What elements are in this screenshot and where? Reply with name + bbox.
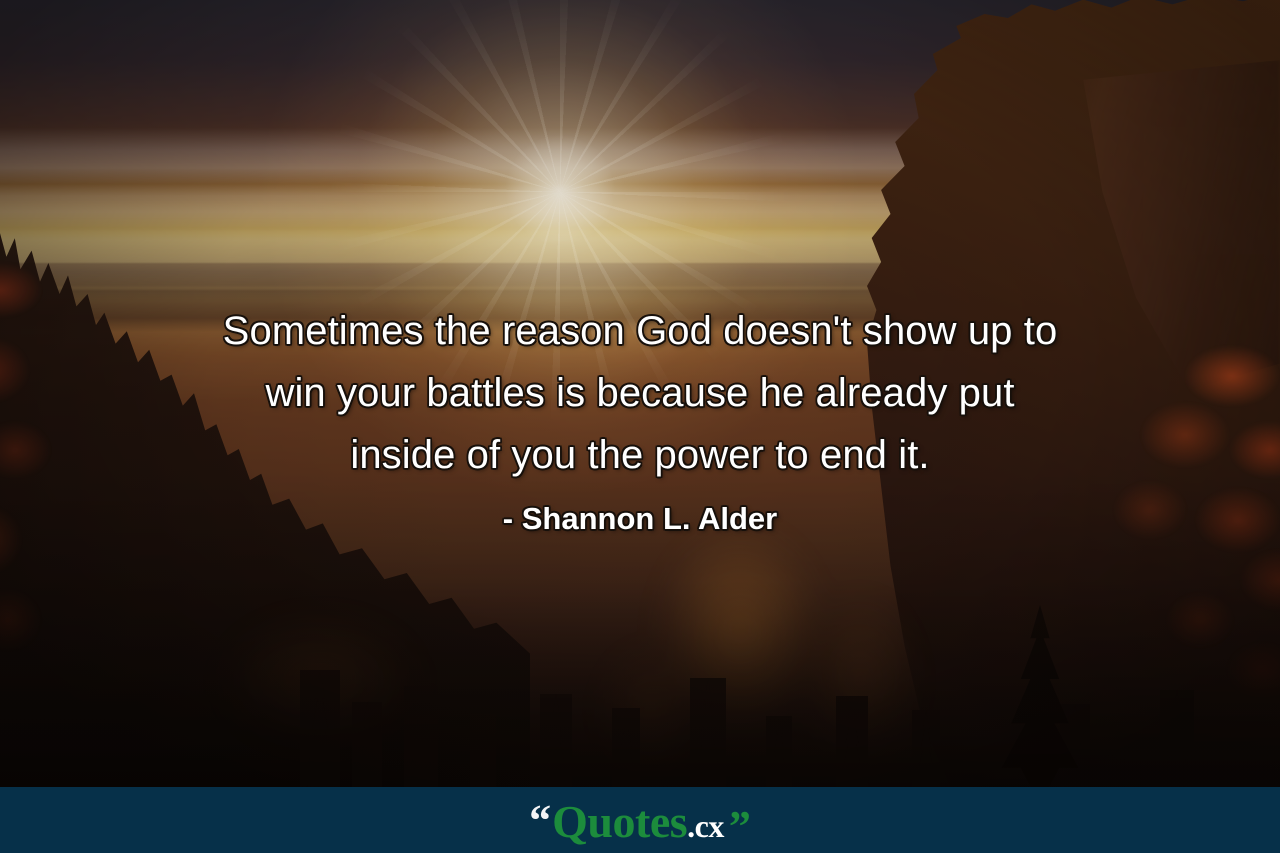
quote-card: Sometimes the reason God doesn't show up… [0,0,1280,853]
open-quote-icon: “ [529,799,551,843]
quote-line-2: win your battles is because he already p… [0,362,1280,424]
logo-name-text: Quotes [552,799,687,845]
site-logo[interactable]: “ Quotes .cx ” [529,799,751,845]
quote-block: Sometimes the reason God doesn't show up… [0,300,1280,546]
footer-bar: “ Quotes .cx ” [0,787,1280,853]
quote-author: - Shannon L. Alder [0,492,1280,546]
logo-tld-text: .cx [687,810,724,842]
quote-line-1: Sometimes the reason God doesn't show up… [0,300,1280,362]
close-quote-icon: ” [729,805,751,849]
quote-line-3: inside of you the power to end it. [0,424,1280,486]
